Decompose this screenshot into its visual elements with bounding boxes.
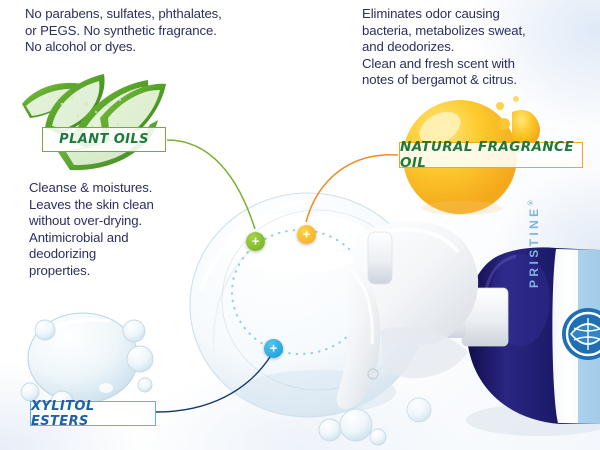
hotspot-plus-icon-plant-oils[interactable]: + xyxy=(246,232,265,251)
copy-top-right: Eliminates odor causing bacteria, metabo… xyxy=(362,6,592,89)
plus-icon: + xyxy=(252,235,260,248)
brand-text: PRISTINE xyxy=(527,205,541,288)
tag-natural-fragrance-oil[interactable]: NATURAL FRAGRANCE OIL xyxy=(399,142,583,168)
tag-plant-oils[interactable]: PLANT OILS xyxy=(42,127,166,152)
hotspot-plus-icon-fragrance[interactable]: + xyxy=(297,225,316,244)
plus-icon: + xyxy=(303,228,311,241)
aloe-leaves-graphic xyxy=(22,74,166,170)
product-brand-name: PRISTINE® xyxy=(527,200,541,288)
copy-top-left: No parabens, sulfates, phthalates, or PE… xyxy=(25,6,295,56)
infographic-canvas: No parabens, sulfates, phthalates, or PE… xyxy=(0,0,600,450)
copy-plant-oils-description: Cleanse & moistures. Leaves the skin cle… xyxy=(29,180,209,280)
trademark-symbol: ® xyxy=(528,200,535,205)
plus-icon: + xyxy=(270,342,278,355)
hotspot-plus-icon-xylitol[interactable]: + xyxy=(264,339,283,358)
tag-xylitol-esters[interactable]: XYLITOL ESTERS xyxy=(30,401,156,426)
